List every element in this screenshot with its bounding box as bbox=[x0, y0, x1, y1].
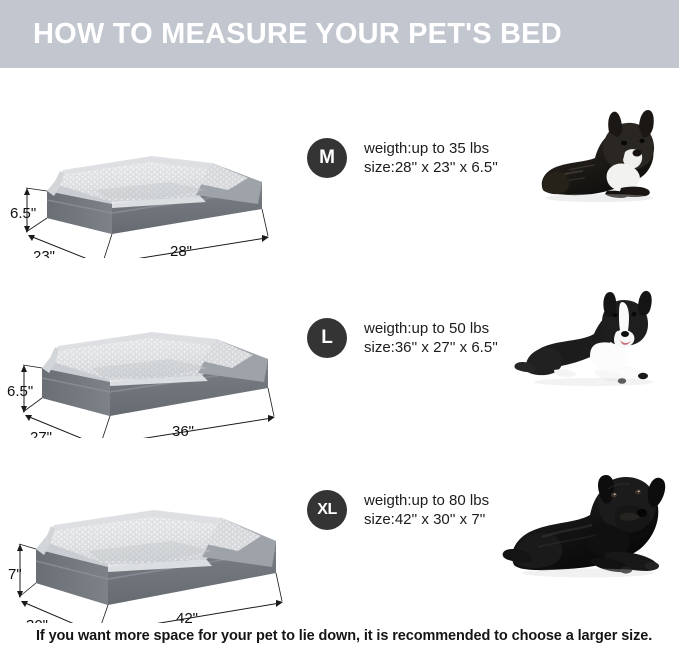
page-title: HOW TO MEASURE YOUR PET'S BED bbox=[33, 18, 562, 51]
bed-illustration-l: 6.5" 27" 36" bbox=[0, 258, 300, 438]
black-labrador-illustration bbox=[502, 453, 677, 603]
spec-text-l: weigth:up to 50 lbs size:36'' x 27'' x 6… bbox=[364, 319, 498, 357]
dimension-label-depth-l: 27" bbox=[30, 429, 52, 438]
footer-note: If you want more space for your pet to l… bbox=[36, 628, 652, 644]
dimension-label-width-xl: 42" bbox=[176, 610, 198, 623]
dimension-label-height-xl: 7" bbox=[8, 566, 22, 583]
dog-photo-l bbox=[512, 270, 677, 410]
size-badge-m: M bbox=[307, 138, 347, 178]
header-banner: HOW TO MEASURE YOUR PET'S BED bbox=[0, 0, 679, 68]
spec-block-l: L weigth:up to 50 lbs size:36'' x 27'' x… bbox=[307, 318, 498, 358]
spec-size-m: size:28'' x 23'' x 6.5'' bbox=[364, 158, 498, 177]
dimension-label-width-l: 36" bbox=[172, 423, 194, 438]
dimension-label-width-m: 28" bbox=[170, 243, 192, 258]
bed-body-l bbox=[42, 332, 268, 416]
size-badge-l: L bbox=[307, 318, 347, 358]
bed-body-xl bbox=[36, 510, 276, 605]
dog-photo-m bbox=[525, 98, 675, 228]
dimension-label-height-m: 6.5" bbox=[10, 205, 36, 222]
dog-photo-xl bbox=[502, 453, 677, 603]
size-row-m: 6.5" 23" 28" M weigth:up to 35 lbs size:… bbox=[0, 78, 679, 258]
bed-illustration-xl: 7" 30" 42" bbox=[0, 443, 300, 623]
bed-diagram-m: 6.5" 23" 28" bbox=[0, 78, 300, 258]
size-row-xl: 7" 30" 42" XL weigth:up to 80 lbs size:4… bbox=[0, 443, 679, 623]
border-collie-illustration bbox=[512, 270, 677, 410]
bed-diagram-l: 6.5" 27" 36" bbox=[0, 258, 300, 438]
spec-text-m: weigth:up to 35 lbs size:28'' x 23'' x 6… bbox=[364, 139, 498, 177]
dimension-label-depth-m: 23" bbox=[33, 248, 55, 258]
spec-size-xl: size:42'' x 30'' x 7'' bbox=[364, 510, 489, 529]
spec-weight-m: weigth:up to 35 lbs bbox=[364, 139, 498, 158]
bed-diagram-xl: 7" 30" 42" bbox=[0, 443, 300, 623]
spec-block-xl: XL weigth:up to 80 lbs size:42'' x 30'' … bbox=[307, 490, 489, 530]
bed-body-m bbox=[47, 156, 262, 234]
french-bulldog-illustration bbox=[525, 98, 675, 228]
spec-weight-xl: weigth:up to 80 lbs bbox=[364, 491, 489, 510]
spec-block-m: M weigth:up to 35 lbs size:28'' x 23'' x… bbox=[307, 138, 498, 178]
bed-illustration-m: 6.5" 23" 28" bbox=[0, 78, 300, 258]
dimension-label-depth-xl: 30" bbox=[26, 617, 48, 623]
spec-weight-l: weigth:up to 50 lbs bbox=[364, 319, 498, 338]
spec-size-l: size:36'' x 27'' x 6.5'' bbox=[364, 338, 498, 357]
dimension-label-height-l: 6.5" bbox=[7, 383, 33, 400]
spec-text-xl: weigth:up to 80 lbs size:42'' x 30'' x 7… bbox=[364, 491, 489, 529]
size-row-l: 6.5" 27" 36" L weigth:up to 50 lbs size:… bbox=[0, 258, 679, 438]
size-badge-xl: XL bbox=[307, 490, 347, 530]
